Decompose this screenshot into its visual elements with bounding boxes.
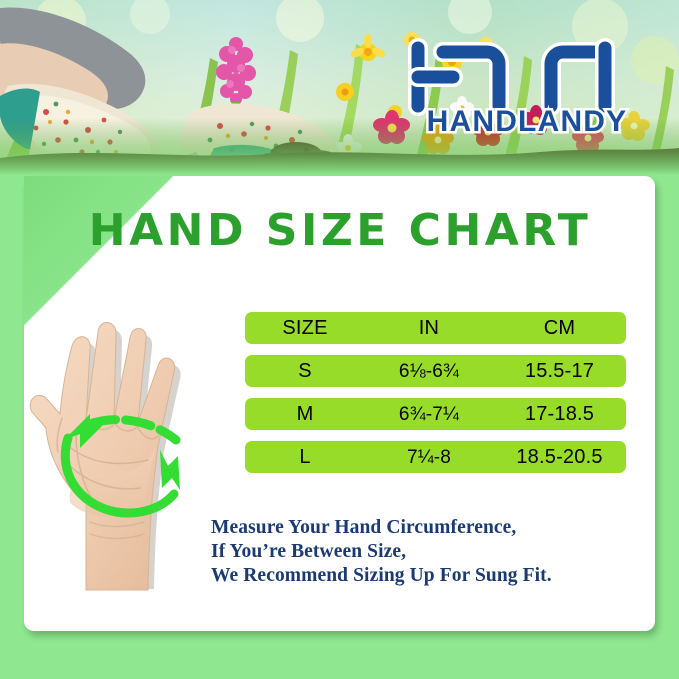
handlandy-logo: HANDLANDY bbox=[405, 38, 650, 138]
cell-size: S bbox=[245, 360, 365, 383]
logo-monogram-d bbox=[551, 48, 605, 106]
table-row: L 7¼-8 18.5-20.5 bbox=[245, 441, 626, 473]
note-line-1: Measure Your Hand Circumference, bbox=[211, 516, 641, 540]
column-header-size: SIZE bbox=[245, 317, 365, 340]
page-title: HAND SIZE CHART bbox=[24, 200, 655, 260]
logo-wordmark: HANDLANDY bbox=[427, 105, 628, 138]
note-line-3: We Recommend Sizing Up For Sung Fit. bbox=[211, 564, 641, 588]
cell-cm: 15.5-17 bbox=[493, 360, 626, 383]
column-header-cm: CM bbox=[493, 317, 626, 340]
logo-monogram-h bbox=[418, 48, 499, 106]
title-label: HAND SIZE CHART bbox=[88, 205, 590, 256]
column-header-in: IN bbox=[365, 317, 493, 340]
table-row: S 6⅛-6¾ 15.5-17 bbox=[245, 355, 626, 387]
cell-inches: 6¾-7¼ bbox=[365, 403, 493, 426]
cell-size: L bbox=[245, 446, 365, 469]
table-row: M 6¾-7¼ 17-18.5 bbox=[245, 398, 626, 430]
cell-cm: 18.5-20.5 bbox=[493, 446, 626, 469]
hand-illustration bbox=[28, 322, 233, 597]
table-header-row: SIZE IN CM bbox=[245, 312, 626, 344]
size-table: SIZE IN CM S 6⅛-6¾ 15.5-17 M 6¾-7¼ 17-18… bbox=[245, 312, 626, 484]
hand-with-measure-arrow bbox=[28, 322, 233, 597]
note-line-2: If You’re Between Size, bbox=[211, 540, 641, 564]
cell-inches: 7¼-8 bbox=[365, 446, 493, 469]
title-artwork: HAND SIZE CHART bbox=[80, 200, 600, 260]
cell-inches: 6⅛-6¾ bbox=[365, 360, 493, 383]
sizing-note: Measure Your Hand Circumference, If You’… bbox=[211, 516, 641, 588]
brand-logo: HANDLANDY bbox=[405, 38, 650, 138]
cell-cm: 17-18.5 bbox=[493, 403, 626, 426]
cell-size: M bbox=[245, 403, 365, 426]
